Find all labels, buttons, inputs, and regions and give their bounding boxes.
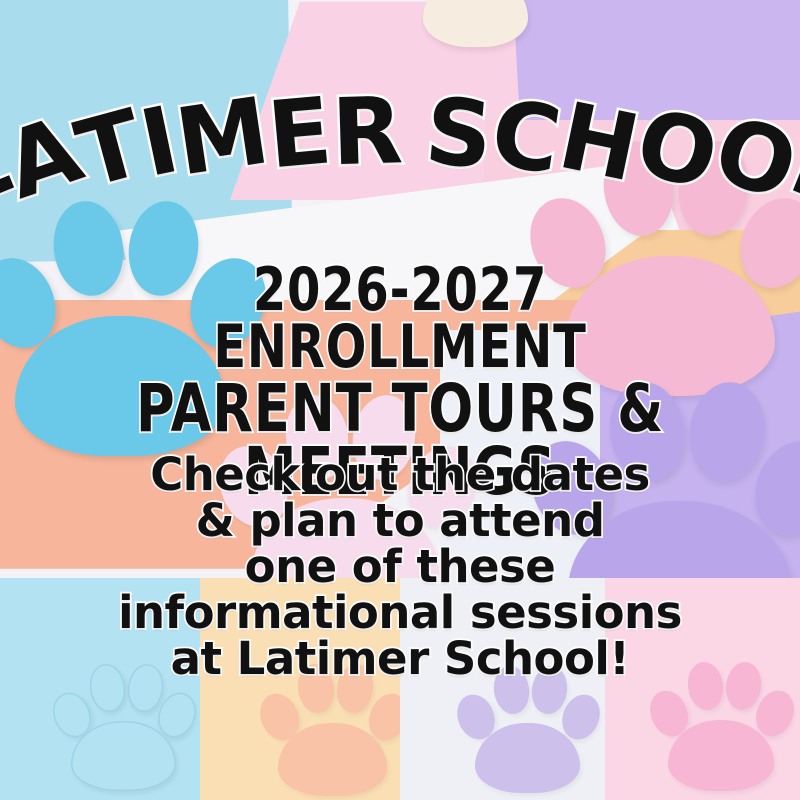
title-letter: E	[265, 91, 333, 179]
body-line-2: & plan to attend	[0, 498, 800, 544]
body-line-3: one of these	[0, 544, 800, 590]
body-copy-block: Check out the dates & plan to attend one…	[0, 452, 800, 681]
title-letter: S	[422, 90, 493, 178]
title-letter: M	[171, 91, 272, 186]
body-line-1: Check out the dates	[0, 452, 800, 498]
body-line-5: at Latimer School!	[0, 636, 800, 682]
title-letter	[402, 91, 424, 174]
flyer-canvas: LATIMER SCHOOL 2026-2027 ENROLLMENT PARE…	[0, 0, 800, 800]
page-title: LATIMER SCHOOL	[0, 58, 800, 208]
title-letter: C	[487, 92, 564, 184]
headline-line-1: 2026-2027 ENROLLMENT	[80, 262, 720, 376]
flyer-content: LATIMER SCHOOL 2026-2027 ENROLLMENT PARE…	[0, 0, 800, 800]
title-letter: R	[331, 90, 402, 175]
body-line-4: informational sessions	[0, 590, 800, 636]
